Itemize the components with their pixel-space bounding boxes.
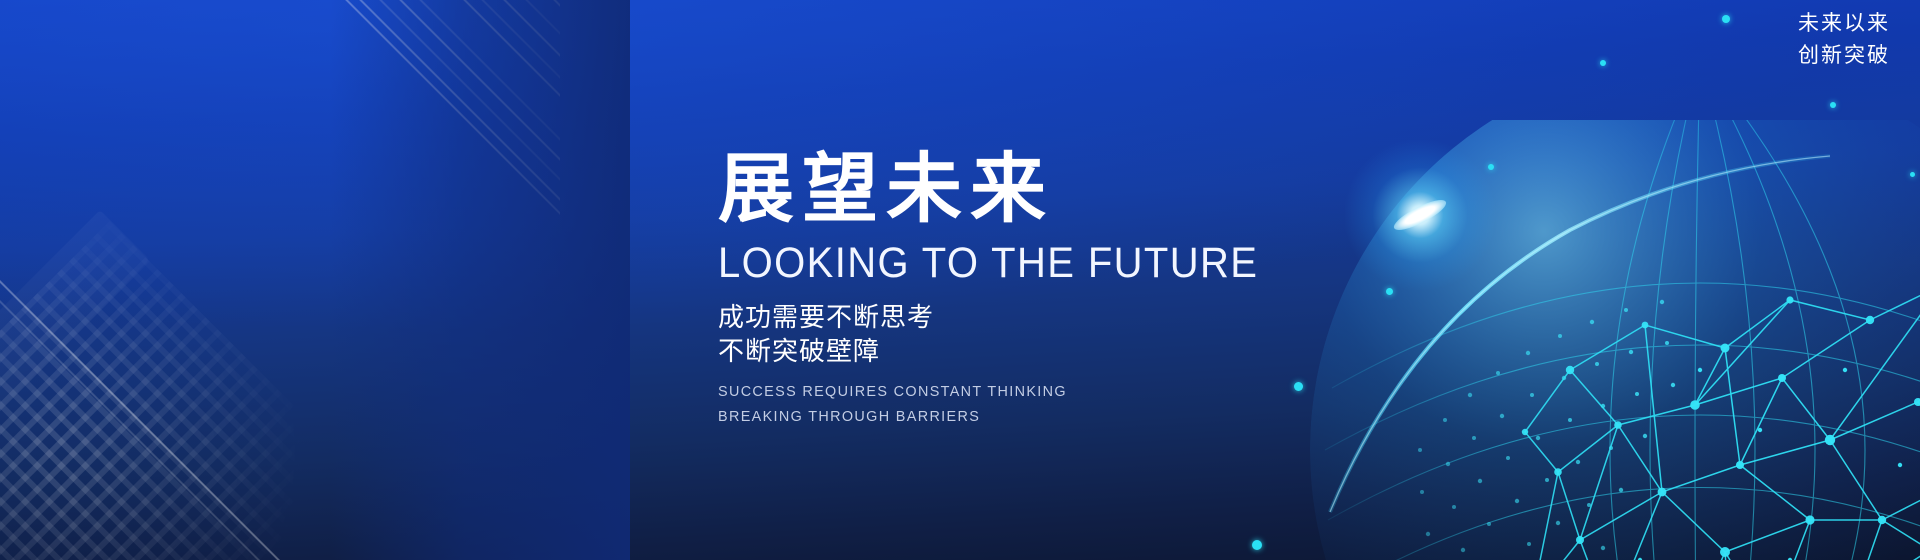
- rim-light-flare: [1345, 140, 1495, 290]
- rim-light-flare-core: [1391, 195, 1450, 236]
- diagonal-geometric-pattern: [0, 0, 560, 560]
- hero-banner: 展望未来 LOOKING TO THE FUTURE 成功需要不断思考 不断突破…: [0, 0, 1920, 560]
- decor-bar: [0, 0, 145, 221]
- decor-line: [0, 180, 395, 560]
- particle-dot: [1830, 102, 1836, 108]
- headline-block: 展望未来 LOOKING TO THE FUTURE 成功需要不断思考 不断突破…: [718, 148, 1358, 429]
- decor-line: [0, 430, 210, 560]
- decor-line: [151, 0, 560, 226]
- page-title: 展望未来: [718, 148, 1358, 232]
- decor-line: [257, 0, 560, 226]
- subtitle-cn-line-1: 成功需要不断思考: [718, 300, 1358, 334]
- decor-line: [131, 0, 560, 226]
- decor-line: [91, 0, 560, 226]
- decor-line: [0, 430, 188, 560]
- decor-line: [77, 0, 560, 226]
- particle-dot: [1488, 164, 1494, 170]
- subtitle-cn-line-2: 不断突破壁障: [718, 334, 1358, 368]
- corner-tagline: 未来以来 创新突破: [1798, 8, 1890, 72]
- subtitle-en-line-1: SUCCESS REQUIRES CONSTANT THINKING: [718, 379, 1332, 404]
- subtitle-en-line-2: BREAKING THROUGH BARRIERS: [718, 404, 1332, 429]
- decor-bar: [0, 210, 149, 528]
- particle-dot: [1910, 172, 1915, 177]
- decor-line: [285, 0, 560, 226]
- particle-dot: [1252, 540, 1262, 550]
- globe-svg: [1270, 120, 1920, 560]
- corner-tagline-line-1: 未来以来: [1798, 8, 1890, 40]
- diamond-dot-grid: [0, 221, 364, 560]
- decor-line: [195, 0, 560, 226]
- page-title-english: LOOKING TO THE FUTURE: [718, 238, 1313, 288]
- decor-bar: [0, 0, 28, 280]
- left-gradient-fade: [330, 0, 630, 560]
- decor-line: [0, 180, 375, 560]
- corner-tagline-line-2: 创新突破: [1798, 40, 1890, 72]
- particle-dot: [1386, 288, 1393, 295]
- wireframe-globe-network: [1270, 120, 1920, 560]
- decor-line: [235, 0, 560, 226]
- decor-line: [111, 0, 560, 226]
- particle-dot: [1722, 15, 1730, 23]
- particle-dot: [1600, 60, 1606, 66]
- decor-line: [213, 0, 560, 226]
